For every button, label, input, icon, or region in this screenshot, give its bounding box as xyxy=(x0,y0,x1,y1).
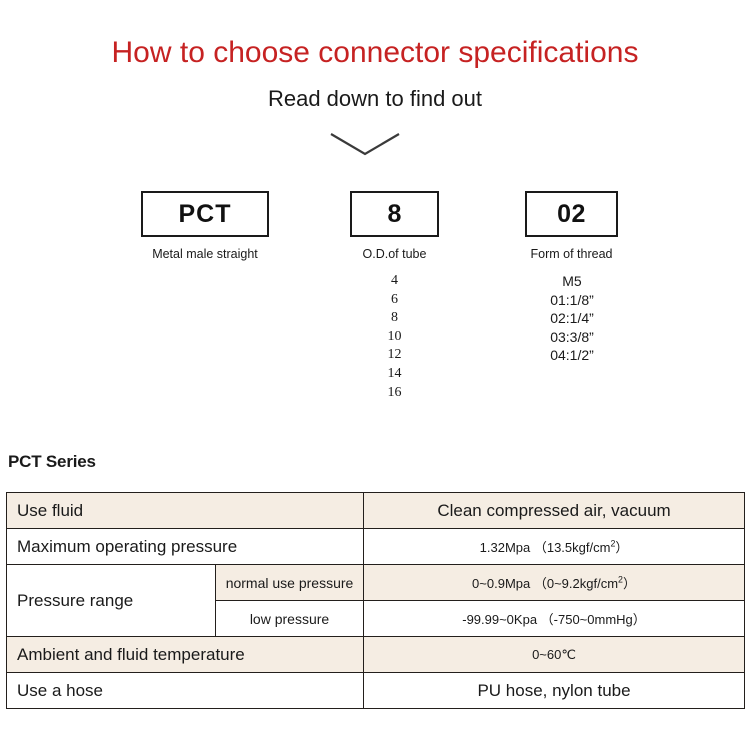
table-row: Use fluid Clean compressed air, vacuum xyxy=(7,493,745,529)
tube-od-option: 8 xyxy=(350,309,439,328)
spec-table-heading: PCT Series xyxy=(8,452,96,472)
tube-od-option: 16 xyxy=(350,384,439,403)
spec-label: Use fluid xyxy=(7,493,364,529)
spec-value-tail: ） xyxy=(623,576,636,591)
thread-form-option: 01:1/8” xyxy=(508,291,636,310)
code-segment-caption-series: Metal male straight xyxy=(141,247,269,261)
table-row: Ambient and fluid temperature 0~60℃ xyxy=(7,637,745,673)
spec-label: Pressure range xyxy=(7,565,216,637)
spec-sublabel: low pressure xyxy=(216,601,364,637)
page-title: How to choose connector specifications xyxy=(0,36,750,70)
spec-value: -99.99~0Kpa （-750~0mmHg） xyxy=(364,601,745,637)
code-segment-box-tube-od: 8 xyxy=(350,191,439,237)
thread-form-option: M5 xyxy=(508,272,636,291)
specification-table: Use fluid Clean compressed air, vacuum M… xyxy=(6,492,745,709)
table-row: Pressure range normal use pressure 0~0.9… xyxy=(7,565,745,601)
table-row: Maximum operating pressure 1.32Mpa （13.5… xyxy=(7,529,745,565)
thread-form-option: 04:1/2” xyxy=(508,346,636,365)
table-row: Use a hose PU hose, nylon tube xyxy=(7,673,745,709)
code-segment-caption-thread-form: Form of thread xyxy=(525,247,618,261)
thread-form-option-list: M5 01:1/8” 02:1/4” 03:3/8” 04:1/2” xyxy=(508,272,636,365)
code-segment-caption-tube-od: O.D.of tube xyxy=(350,247,439,261)
tube-od-option: 10 xyxy=(350,328,439,347)
spec-value-tail: ） xyxy=(615,540,628,555)
tube-od-option-list: 4 6 8 10 12 14 16 xyxy=(350,272,439,402)
page-subtitle: Read down to find out xyxy=(0,86,750,112)
spec-value: 0~0.9Mpa （0~9.2kgf/cm2） xyxy=(364,565,745,601)
chevron-down-icon xyxy=(327,130,403,160)
spec-label: Maximum operating pressure xyxy=(7,529,364,565)
spec-value: 1.32Mpa （13.5kgf/cm2） xyxy=(364,529,745,565)
spec-label: Use a hose xyxy=(7,673,364,709)
thread-form-option: 02:1/4” xyxy=(508,309,636,328)
tube-od-option: 6 xyxy=(350,291,439,310)
code-segment-box-thread-form: 02 xyxy=(525,191,618,237)
spec-value-text: 1.32Mpa （13.5kgf/cm xyxy=(480,540,611,555)
spec-value: Clean compressed air, vacuum xyxy=(364,493,745,529)
spec-value: PU hose, nylon tube xyxy=(364,673,745,709)
tube-od-option: 14 xyxy=(350,365,439,384)
tube-od-option: 12 xyxy=(350,346,439,365)
spec-value: 0~60℃ xyxy=(364,637,745,673)
spec-sublabel: normal use pressure xyxy=(216,565,364,601)
code-segment-box-series: PCT xyxy=(141,191,269,237)
thread-form-option: 03:3/8” xyxy=(508,328,636,347)
spec-value-text: 0~0.9Mpa （0~9.2kgf/cm xyxy=(472,576,618,591)
spec-label: Ambient and fluid temperature xyxy=(7,637,364,673)
tube-od-option: 4 xyxy=(350,272,439,291)
